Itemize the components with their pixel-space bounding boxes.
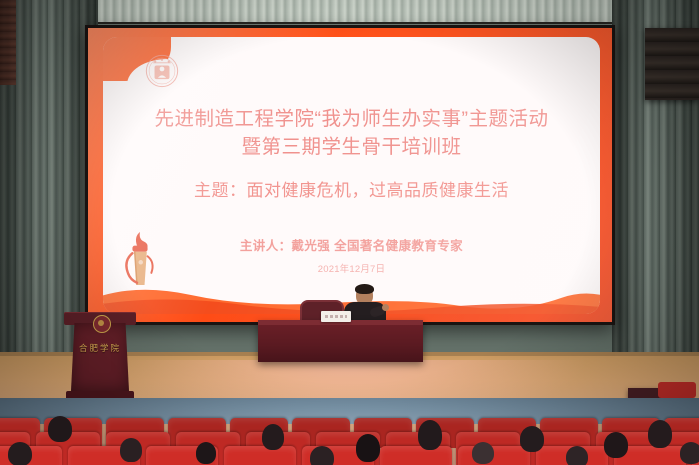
slide-title-line-1: 先进制造工程学院“我为师生办实事”主题活动: [103, 105, 600, 133]
console-red-item: [658, 382, 696, 398]
audience-member-head: [356, 434, 380, 462]
university-emblem-icon: [145, 54, 179, 88]
curtain-valance: [0, 0, 699, 24]
slide-speaker-line: 主讲人：戴光强 全国著名健康教育专家: [103, 235, 600, 254]
projection-screen-frame: 先进制造工程学院“我为师生办实事”主题活动 暨第三期学生骨干培训班 主题：面对健…: [85, 25, 615, 325]
slide-date-line: 2021年12月7日: [103, 261, 600, 275]
audience-seat: [458, 446, 530, 465]
table-nameplate: [321, 311, 351, 322]
audience-member-head: [520, 426, 544, 452]
audience-member-head: [648, 420, 672, 448]
audience-member-head: [418, 420, 442, 450]
speaker-hair: [355, 284, 374, 294]
projection-screen: 先进制造工程学院“我为师生办实事”主题活动 暨第三期学生骨干培训班 主题：面对健…: [88, 28, 612, 322]
speaker-hand: [382, 304, 389, 311]
slide-text-block: 先进制造工程学院“我为师生办实事”主题活动 暨第三期学生骨干培训班 主题：面对健…: [103, 105, 600, 275]
audience-member-head: [566, 446, 588, 465]
audience-member-head: [310, 446, 334, 465]
wall-speaker-grille: [645, 28, 699, 100]
slide-card: 先进制造工程学院“我为师生办实事”主题活动 暨第三期学生骨干培训班 主题：面对健…: [103, 37, 600, 314]
slide-topic-line: 主题：面对健康危机，过高品质健康生活: [103, 176, 600, 201]
head-table: [258, 320, 423, 362]
audience-member-head: [680, 442, 699, 464]
slide-title-line-2: 暨第三期学生骨干培训班: [103, 133, 600, 161]
lectern-podium: 合肥学院: [62, 312, 138, 404]
audience-seating: [0, 412, 699, 465]
audience-member-head: [604, 432, 628, 458]
audience-member-head: [196, 442, 216, 464]
audience-member-head: [262, 424, 284, 450]
podium-crest-icon: [93, 315, 111, 333]
audience-seat: [380, 446, 452, 465]
auditorium-photo: 先进制造工程学院“我为师生办实事”主题活动 暨第三期学生骨干培训班 主题：面对健…: [0, 0, 699, 465]
audience-seat: [224, 446, 296, 465]
audience-member-head: [120, 438, 142, 462]
audience-member-head: [48, 416, 72, 442]
audience-member-head: [472, 442, 494, 464]
audience-member-head: [8, 442, 32, 465]
podium-body: [71, 323, 129, 391]
podium-label: 合肥学院: [62, 342, 138, 354]
